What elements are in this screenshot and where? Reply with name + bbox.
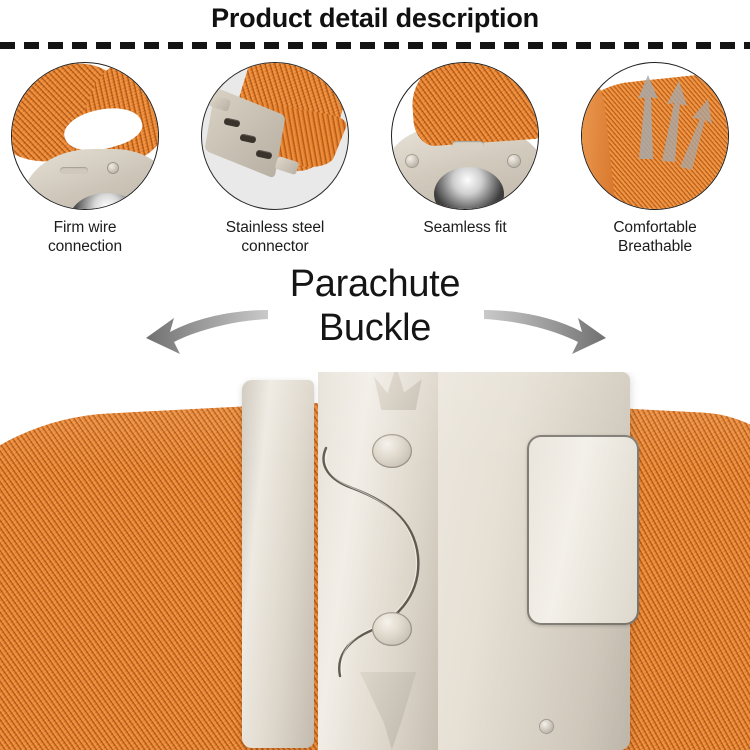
feature-label-line1: Stainless steel: [226, 219, 324, 236]
buckle-title-line2: Buckle: [319, 307, 431, 349]
watch-slot: [60, 167, 88, 174]
bottom-screw: [540, 720, 553, 733]
feature-label-line1: Comfortable: [613, 219, 696, 236]
product-detail-page: Product detail description Firm wire con…: [0, 0, 750, 750]
page-header: Product detail description: [0, 0, 750, 50]
arrow-left-icon: [140, 304, 270, 362]
watch-screw-left: [30, 193, 40, 203]
feature-image-seamless-fit: [391, 62, 539, 210]
strap-keeper-bar[interactable]: [242, 380, 314, 748]
watch-screw-right: [508, 155, 520, 167]
feature-label-line1: Firm wire: [54, 219, 117, 236]
page-title: Product detail description: [0, 3, 750, 33]
watch-slot: [452, 141, 484, 149]
feature-label-seamless-fit: Seamless fit: [372, 218, 558, 237]
feature-label-line1: Seamless fit: [423, 219, 506, 236]
feature-stainless-steel-connector: Stainless steel connector: [182, 58, 368, 256]
feature-label-line2: connection: [48, 238, 122, 255]
feature-row: Firm wire connection Stainless steel con…: [0, 58, 750, 258]
band-end: [409, 62, 539, 147]
watch-screw-right: [108, 163, 118, 173]
latch-seam: [318, 432, 488, 702]
feature-image-stainless-steel-connector: [201, 62, 349, 210]
feature-label-stainless-steel-connector: Stainless steel connector: [182, 218, 368, 256]
buckle-title-line1: Parachute: [290, 263, 461, 305]
feature-seamless-fit: Seamless fit: [372, 58, 558, 237]
feature-label-line2: Breathable: [618, 238, 692, 255]
feature-label-line2: connector: [241, 238, 308, 255]
rivet-top: [372, 434, 412, 468]
feature-comfortable-breathable: Comfortable Breathable: [562, 58, 748, 256]
dashed-divider: [0, 42, 750, 49]
buckle-headline-block: Parachute Buckle: [0, 262, 750, 372]
feature-label-firm-wire-connection: Firm wire connection: [0, 218, 178, 256]
release-button[interactable]: [527, 435, 639, 625]
feature-image-comfortable-breathable: [581, 62, 729, 210]
buckle-title: Parachute Buckle: [0, 262, 750, 350]
airflow-arrows-icon: [582, 63, 728, 209]
feature-image-firm-wire-connection: [11, 62, 159, 210]
hero-buckle-photo: [0, 372, 750, 750]
rivet-bottom: [372, 612, 412, 646]
feature-firm-wire-connection: Firm wire connection: [0, 58, 178, 256]
watch-screw-left: [406, 155, 418, 167]
feature-label-comfortable-breathable: Comfortable Breathable: [562, 218, 748, 256]
arrow-right-icon: [482, 304, 612, 362]
